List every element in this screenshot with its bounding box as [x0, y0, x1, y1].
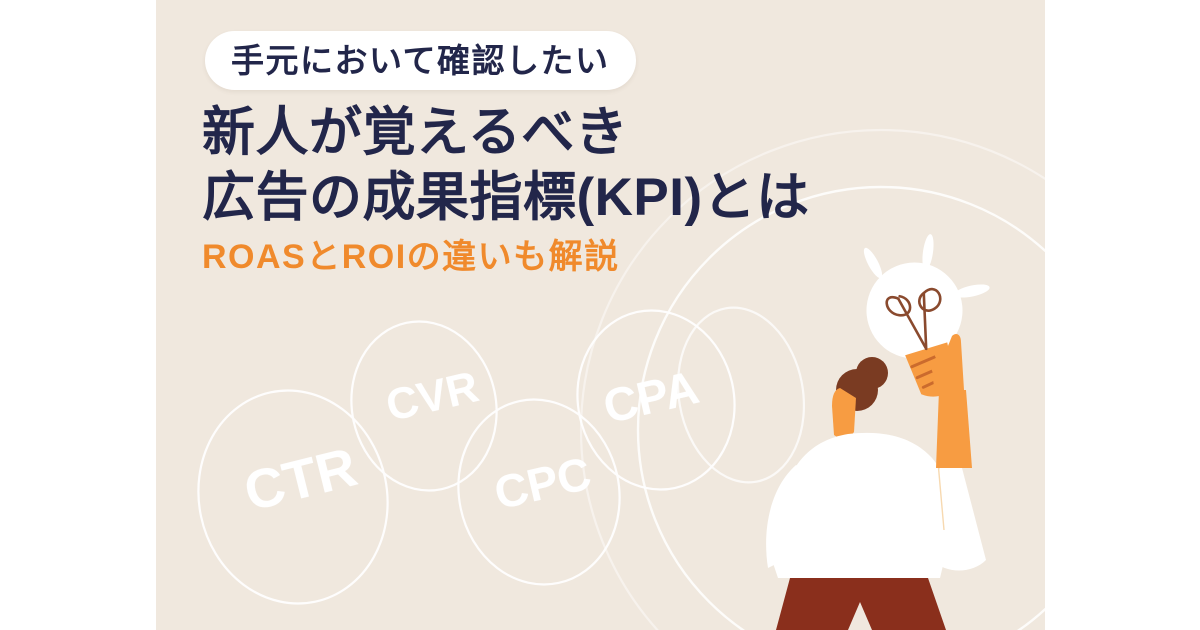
eyebrow-badge: 手元において確認したい	[205, 31, 636, 90]
poster-canvas: CTR CVR CPC CPA 手元において確認したい 新人が覚えるべき 広告の…	[0, 0, 1200, 630]
kpi-label-cvr: CVR	[382, 365, 482, 429]
subtitle-text: ROASとROIの違いも解説	[202, 240, 810, 274]
pointing-hand-icon	[931, 334, 972, 468]
shirt-torso	[772, 433, 950, 578]
title-line-2: 広告の成果指標(KPI)とは	[202, 166, 810, 231]
kpi-label-cpc: CPC	[490, 450, 595, 517]
pants	[776, 578, 946, 630]
kpi-label-cpa: CPA	[599, 363, 703, 430]
beige-background-panel: CTR CVR CPC CPA 手元において確認したい 新人が覚えるべき 広告の…	[156, 0, 1045, 630]
title-line-1: 新人が覚えるべき	[202, 101, 810, 166]
kpi-label-ctr: CTR	[239, 439, 362, 520]
eyebrow-badge-text: 手元において確認したい	[231, 44, 610, 77]
headline-block: 新人が覚えるべき 広告の成果指標(KPI)とは ROASとROIの違いも解説	[202, 101, 810, 274]
illustration-person-with-lightbulb	[756, 230, 1045, 630]
